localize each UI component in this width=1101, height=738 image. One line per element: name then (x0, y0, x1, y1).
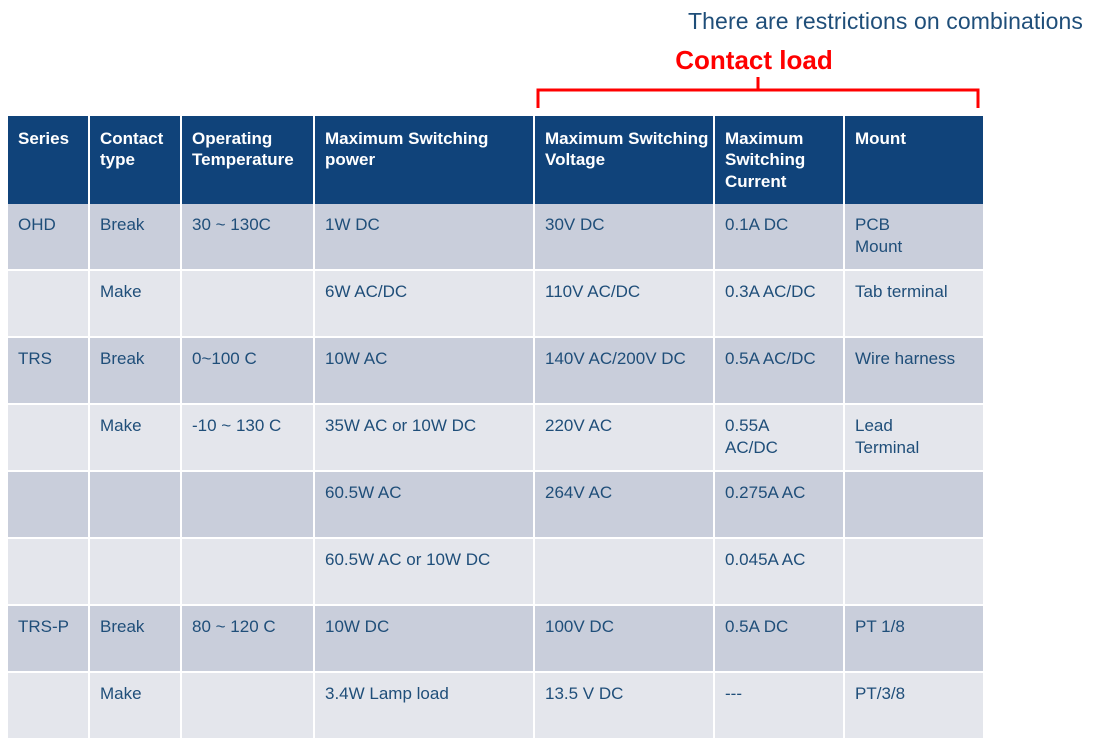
cell-contact-type: Make (89, 270, 181, 337)
cell-series: TRS-P (8, 605, 89, 672)
table-header-row: Series Contact type Operating Temperatur… (8, 116, 983, 204)
cell-maximum-switching-current: 0.55A AC/DC (714, 404, 844, 471)
restrictions-note: There are restrictions on combinations (688, 8, 1083, 35)
cell-maximum-switching-current: 0.5A AC/DC (714, 337, 844, 404)
cell-operating-temperature (181, 270, 314, 337)
cell-operating-temperature (181, 672, 314, 738)
table-row: Make 6W AC/DC 110V AC/DC 0.3A AC/DC Tab … (8, 270, 983, 337)
cell-mount: Lead Terminal (844, 404, 983, 471)
cell-mount: Wire harness (844, 337, 983, 404)
cell-mount (844, 471, 983, 538)
cell-maximum-switching-current: 0.3A AC/DC (714, 270, 844, 337)
cell-operating-temperature: 0~100 C (181, 337, 314, 404)
cell-mount: PT 1/8 (844, 605, 983, 672)
cell-maximum-switching-current: 0.275A AC (714, 471, 844, 538)
cell-maximum-switching-voltage: 100V DC (534, 605, 714, 672)
column-header-maximum-switching-voltage: Maximum Switching Voltage (534, 116, 714, 204)
cell-series (8, 404, 89, 471)
column-header-contact-type: Contact type (89, 116, 181, 204)
cell-operating-temperature: -10 ~ 130 C (181, 404, 314, 471)
cell-maximum-switching-current: 0.1A DC (714, 204, 844, 270)
table-row: TRS-P Break 80 ~ 120 C 10W DC 100V DC 0.… (8, 605, 983, 672)
cell-maximum-switching-voltage: 220V AC (534, 404, 714, 471)
cell-operating-temperature (181, 471, 314, 538)
cell-series (8, 270, 89, 337)
cell-contact-type: Break (89, 204, 181, 270)
contact-load-specification-table: Series Contact type Operating Temperatur… (8, 116, 983, 738)
cell-series (8, 672, 89, 738)
contact-load-title: Contact load (536, 45, 972, 76)
annotation-layer: There are restrictions on combinations C… (0, 0, 1101, 116)
table-row: TRS Break 0~100 C 10W AC 140V AC/200V DC… (8, 337, 983, 404)
cell-mount: PCB Mount (844, 204, 983, 270)
cell-mount: PT/3/8 (844, 672, 983, 738)
column-header-maximum-switching-power: Maximum Switching power (314, 116, 534, 204)
cell-mount: Tab terminal (844, 270, 983, 337)
column-header-series: Series (8, 116, 89, 204)
cell-maximum-switching-power: 10W DC (314, 605, 534, 672)
table-row: Make 3.4W Lamp load 13.5 V DC --- PT/3/8 (8, 672, 983, 738)
cell-maximum-switching-power: 1W DC (314, 204, 534, 270)
contact-load-bracket-icon (528, 76, 988, 110)
cell-operating-temperature (181, 538, 314, 605)
cell-maximum-switching-voltage: 13.5 V DC (534, 672, 714, 738)
cell-series (8, 471, 89, 538)
cell-maximum-switching-power: 60.5W AC (314, 471, 534, 538)
cell-maximum-switching-power: 60.5W AC or 10W DC (314, 538, 534, 605)
cell-contact-type: Make (89, 672, 181, 738)
cell-operating-temperature: 80 ~ 120 C (181, 605, 314, 672)
cell-maximum-switching-power: 35W AC or 10W DC (314, 404, 534, 471)
cell-maximum-switching-current: 0.045A AC (714, 538, 844, 605)
cell-operating-temperature: 30 ~ 130C (181, 204, 314, 270)
cell-contact-type: Break (89, 337, 181, 404)
cell-contact-type: Make (89, 404, 181, 471)
column-header-mount: Mount (844, 116, 983, 204)
cell-contact-type (89, 538, 181, 605)
cell-contact-type (89, 471, 181, 538)
cell-maximum-switching-power: 6W AC/DC (314, 270, 534, 337)
cell-maximum-switching-power: 3.4W Lamp load (314, 672, 534, 738)
cell-maximum-switching-current: 0.5A DC (714, 605, 844, 672)
cell-maximum-switching-power: 10W AC (314, 337, 534, 404)
cell-contact-type: Break (89, 605, 181, 672)
cell-series (8, 538, 89, 605)
cell-series: OHD (8, 204, 89, 270)
cell-maximum-switching-voltage: 264V AC (534, 471, 714, 538)
table-row: Make -10 ~ 130 C 35W AC or 10W DC 220V A… (8, 404, 983, 471)
cell-maximum-switching-voltage: 140V AC/200V DC (534, 337, 714, 404)
table-row: 60.5W AC 264V AC 0.275A AC (8, 471, 983, 538)
cell-maximum-switching-voltage (534, 538, 714, 605)
cell-maximum-switching-current: --- (714, 672, 844, 738)
cell-maximum-switching-voltage: 30V DC (534, 204, 714, 270)
cell-maximum-switching-voltage: 110V AC/DC (534, 270, 714, 337)
column-header-operating-temperature: Operating Temperature (181, 116, 314, 204)
table-row: 60.5W AC or 10W DC 0.045A AC (8, 538, 983, 605)
column-header-maximum-switching-current: Maximum Switching Current (714, 116, 844, 204)
cell-mount (844, 538, 983, 605)
cell-series: TRS (8, 337, 89, 404)
table-row: OHD Break 30 ~ 130C 1W DC 30V DC 0.1A DC… (8, 204, 983, 270)
